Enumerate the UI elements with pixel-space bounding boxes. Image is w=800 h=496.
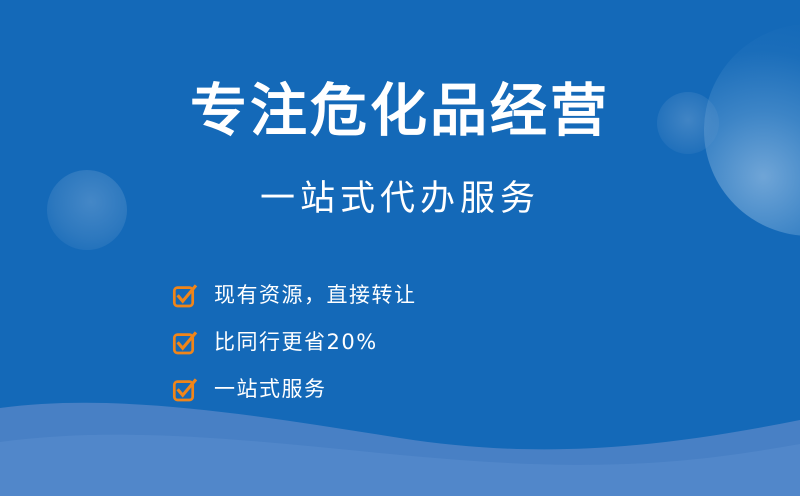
feature-list-item: 比同行更省20% (172, 319, 417, 366)
checkbox-checked-icon (172, 377, 198, 403)
banner-subheadline: 一站式代办服务 (0, 182, 800, 217)
feature-label: 一站式服务 (214, 379, 327, 400)
feature-list: 现有资源，直接转让 比同行更省20% 一站式服务 (172, 272, 417, 413)
feature-label: 现有资源，直接转让 (214, 285, 417, 306)
feature-list-item: 现有资源，直接转让 (172, 272, 417, 319)
banner-content: 专注危化品经营 一站式代办服务 现有资源，直接转让 比同行更省20% (0, 0, 800, 496)
banner-headline: 专注危化品经营 (0, 82, 800, 139)
promo-banner: 专注危化品经营 一站式代办服务 现有资源，直接转让 比同行更省20% (0, 0, 800, 496)
checkbox-checked-icon (172, 330, 198, 356)
feature-list-item: 一站式服务 (172, 366, 417, 413)
feature-label: 比同行更省20% (214, 332, 378, 353)
checkbox-checked-icon (172, 283, 198, 309)
